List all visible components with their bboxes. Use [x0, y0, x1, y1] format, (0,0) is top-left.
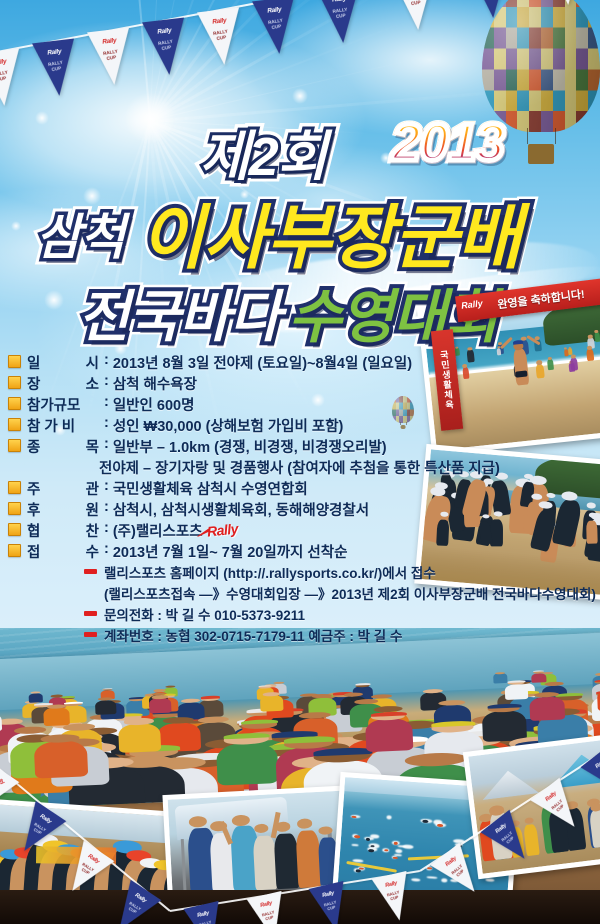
info-bullet-square	[8, 439, 21, 452]
info-label-part: 수	[86, 541, 99, 562]
info-label-part: 관	[86, 478, 99, 499]
red-dash-bullet	[84, 611, 97, 616]
info-colon: :	[104, 415, 109, 431]
info-label-part: 종	[27, 436, 40, 457]
info-sub-row: 계좌번호 : 농협 302-0715-7179-11 예금주 : 박 길 수	[8, 625, 478, 646]
info-bullet-square	[8, 418, 21, 431]
info-colon: :	[104, 541, 109, 557]
info-label: 참 가 비	[27, 415, 99, 436]
crowd-head	[495, 672, 505, 674]
info-row: 후원:삼척시, 삼척시생활체육회, 동해해양경찰서	[8, 499, 478, 520]
info-bullet-square	[8, 544, 21, 557]
rally-logo: Rally	[206, 520, 238, 539]
info-row: 접수:2013년 7월 1일~ 7월 20일까지 선착순	[8, 541, 478, 562]
pennant-triangle	[316, 0, 363, 45]
banner-rally-logo: Rally	[461, 298, 484, 311]
info-label-part: 일	[27, 352, 40, 373]
crowd-person	[505, 684, 529, 700]
info-bullet-square	[8, 397, 21, 410]
info-bullet-square	[8, 481, 21, 494]
info-label-part: 참가규모	[27, 394, 80, 415]
info-colon: :	[104, 352, 109, 368]
info-label-part: 시	[86, 352, 99, 373]
info-label-part: 목	[86, 436, 99, 457]
photo-swim-cap	[561, 491, 577, 501]
info-label-part: 찬	[86, 520, 99, 541]
info-row: 주관:국민생활체육 삼척시 수영연합회	[8, 478, 478, 499]
info-label-part: 주	[27, 478, 40, 499]
info-label: 접수	[27, 541, 99, 562]
pennant-triangle	[0, 762, 19, 822]
info-list: 일시:2013년 8월 3일 전야제 (토요일)~8월4일 (일요일)장소:삼척…	[8, 352, 478, 646]
info-label: 장소	[27, 373, 99, 394]
photo-swim-cap	[589, 512, 597, 517]
info-value: 2013년 8월 3일 전야제 (토요일)~8월4일 (일요일)	[113, 352, 412, 373]
info-label: 참가규모	[27, 394, 99, 415]
poster-root: RallyRALLY CUPRallyRALLY CUPRallyRALLY C…	[0, 0, 600, 924]
main-title-text: 이사부장군배	[140, 182, 520, 283]
info-colon: :	[104, 520, 109, 536]
info-value: 성인 ₩30,000 (상해보험 가입비 포함)	[113, 415, 344, 436]
pennant-triangle	[466, 0, 513, 20]
info-row: 장소:삼척 해수욕장	[8, 373, 478, 394]
photo-person	[547, 359, 554, 370]
info-label: 종목	[27, 436, 99, 457]
info-value: 전야제 – 장기자랑 및 경품행사 (참여자에 추첨을 통한 특산품 지급)	[99, 457, 500, 478]
subtitle-1-text: 전국바다	[78, 272, 280, 353]
info-label-part: 원	[86, 499, 99, 520]
info-bullet-square	[8, 355, 21, 368]
info-label-part: 참 가 비	[27, 415, 75, 436]
info-row: 일시:2013년 8월 3일 전야제 (토요일)~8월4일 (일요일)	[8, 352, 478, 373]
info-sub-value: (랠리스포츠접속 —》수영대회입장 —》2013년 제2회 이사부장군배 전국바…	[104, 583, 596, 603]
info-value: 일반부 – 1.0km (경쟁, 비경쟁, 비경쟁오리발)	[113, 436, 387, 457]
bunting-bottom: RallyRALLY CUPRallyRALLY CUPRallyRALLY C…	[0, 700, 600, 924]
info-sub-row: 문의전화 : 박 길 수 010-5373-9211	[8, 604, 478, 625]
info-colon: :	[104, 373, 109, 389]
info-label: 후원	[27, 499, 99, 520]
info-value: 일반인 600명	[113, 394, 195, 415]
pennant-triangle	[541, 0, 588, 7]
info-value: 국민생활체육 삼척시 수영연합회	[113, 478, 308, 499]
info-row: 참가규모:일반인 600명	[8, 394, 478, 415]
info-sub-value: 랠리스포츠 홈페이지 (http://.rallysports.co.kr/)에…	[104, 562, 436, 582]
info-value: 삼척시, 삼척시생활체육회, 동해해양경찰서	[113, 499, 369, 520]
city-text: 삼척	[36, 198, 124, 269]
info-value: (주)랠리스포츠	[113, 520, 203, 541]
info-row: 참 가 비:성인 ₩30,000 (상해보험 가입비 포함)	[8, 415, 478, 436]
info-label-part: 협	[27, 520, 40, 541]
info-label: 일시	[27, 352, 99, 373]
crowd-person	[531, 673, 546, 683]
pennant-triangle	[581, 745, 600, 805]
info-sub-value: 계좌번호 : 농협 302-0715-7179-11 예금주 : 박 길 수	[104, 625, 402, 645]
info-bullet-square	[8, 376, 21, 389]
info-label-part: 장	[27, 373, 40, 394]
info-label: 주관	[27, 478, 99, 499]
info-sub-value: 문의전화 : 박 길 수 010-5373-9211	[104, 604, 305, 624]
red-dash-bullet	[84, 632, 97, 637]
info-colon: :	[104, 478, 109, 494]
info-colon: :	[104, 499, 109, 515]
info-colon: :	[104, 394, 109, 410]
info-label: 협찬	[27, 520, 99, 541]
info-sub-row: (랠리스포츠접속 —》수영대회입장 —》2013년 제2회 이사부장군배 전국바…	[8, 583, 478, 604]
info-row: 종목:일반부 – 1.0km (경쟁, 비경쟁, 비경쟁오리발)	[8, 436, 478, 457]
crowd-person	[493, 673, 507, 683]
info-label-part: 접	[27, 541, 40, 562]
bunting-top: RallyRALLY CUPRallyRALLY CUPRallyRALLY C…	[0, 0, 600, 140]
info-sub-row: 랠리스포츠 홈페이지 (http://.rallysports.co.kr/)에…	[8, 562, 478, 583]
info-row: 협찬:(주)랠리스포츠Rally	[8, 520, 478, 541]
photo-person-head	[587, 345, 592, 349]
info-value: 2013년 7월 1일~ 7월 20일까지 선착순	[113, 541, 348, 562]
info-colon: :	[104, 436, 109, 452]
info-label-part: 소	[86, 373, 99, 394]
info-label-part: 후	[27, 499, 40, 520]
info-bullet-square	[8, 523, 21, 536]
info-bullet-square	[8, 502, 21, 515]
photo-swimmer	[586, 520, 598, 543]
photo-person	[570, 357, 578, 370]
photo-hero-trunks	[516, 371, 528, 378]
red-dash-bullet	[84, 569, 97, 574]
info-value: 삼척 해수욕장	[113, 373, 197, 394]
info-row-continuation: 전야제 – 장기자랑 및 경품행사 (참여자에 추첨을 통한 특산품 지급)	[8, 457, 478, 478]
